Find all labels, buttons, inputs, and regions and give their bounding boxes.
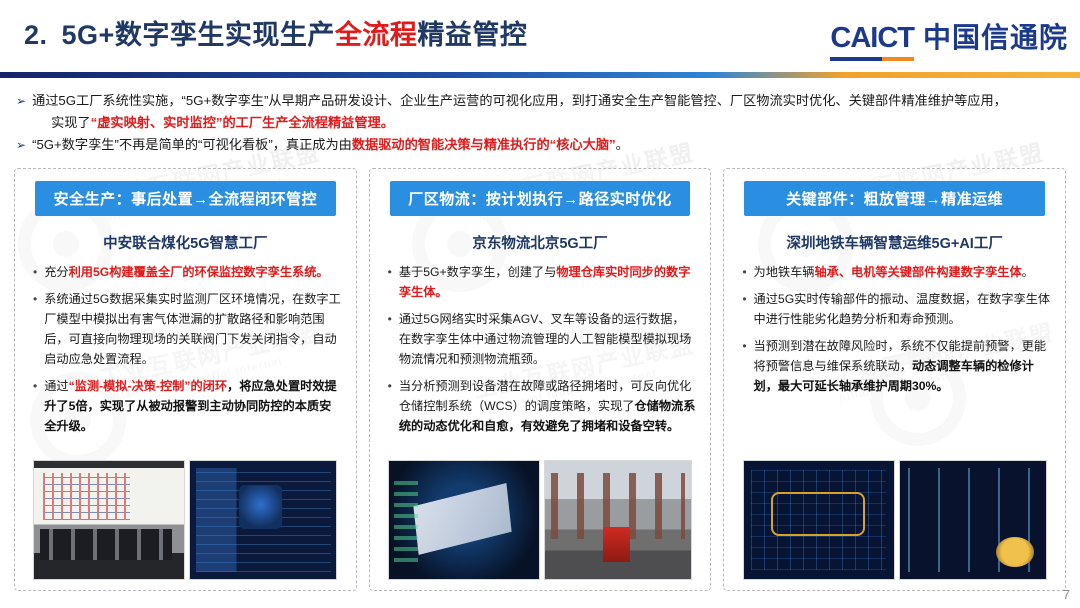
- bullet-text: 当预测到潜在故障风险时，系统不仅能提前预警，更能将预警信息与维保系统联动，动态调…: [754, 336, 1051, 396]
- bullet-dot-icon: •: [742, 262, 746, 282]
- intro-bullet-2: ➢ “5G+数字孪生”不再是简单的“可视化看板”，真正成为由数据驱动的智能决策与…: [16, 134, 1064, 156]
- caict-logo: CAICT 中国信通院: [830, 16, 1068, 61]
- arrow-bullet-icon: ➢: [16, 90, 26, 112]
- seg-normal: 通过: [44, 379, 68, 393]
- page-title: 2.5G+数字孪生实现生产全流程精益管控: [24, 13, 527, 52]
- column-subtitle-logistics: 京东物流北京5G工厂: [378, 232, 703, 253]
- figure-strip-logistics: [378, 456, 703, 582]
- figure-strip-safety: [23, 456, 348, 582]
- intro-bullets: ➢ 通过5G工厂系统性实施，“5G+数字孪生”从早期产品研发设计、企业生产运营的…: [16, 90, 1064, 156]
- list-item: • 基于5G+数字孪生，创建了与物理仓库实时同步的数字孪生体。: [382, 262, 697, 302]
- column-bullets-logistics: • 基于5G+数字孪生，创建了与物理仓库实时同步的数字孪生体。 • 通过5G网络…: [378, 262, 703, 443]
- list-item: • 为地铁车辆轴承、电机等关键部件构建数字孪生体。: [736, 262, 1051, 282]
- bullet-text: 通过5G实时传输部件的振动、温度数据，在数字孪生体中进行性能劣化趋势分析和寿命预…: [754, 289, 1051, 329]
- slide-header: 2.5G+数字孪生实现生产全流程精益管控 CAICT 中国信通院: [0, 0, 1080, 70]
- caict-logo-underline: [830, 57, 914, 61]
- list-item: • 系统通过5G数据采集实时监测厂区环境情况，在数字工厂模型中模拟出有害气体泄漏…: [27, 289, 342, 369]
- column-bullets-safety: • 充分利用5G构建覆盖全厂的环保监控数字孪生系统。 • 系统通过5G数据采集实…: [23, 262, 348, 443]
- list-item: • 充分利用5G构建覆盖全厂的环保监控数字孪生系统。: [27, 262, 342, 282]
- list-item: • 通过“监测-模拟-决策-控制”的闭环，将应急处置时效提升了5倍，实现了从被动…: [27, 376, 342, 436]
- intro-b2-black: “5G+数字孪生”不再是简单的“可视化看板”，真正成为由: [32, 137, 352, 152]
- seg-normal: 充分: [44, 265, 68, 279]
- figure-environment-dashboard: [189, 460, 337, 580]
- bullet-dot-icon: •: [742, 289, 746, 309]
- figure-warehouse-photo: [544, 460, 692, 580]
- intro-b2-red: 数据驱动的智能决策与精准执行的“核心大脑”: [352, 137, 616, 152]
- page-number: 7: [1063, 587, 1070, 602]
- seg-normal: 为地铁车辆: [754, 265, 815, 279]
- figure-control-room-photo: [33, 460, 185, 580]
- bullet-text: 通过5G网络实时采集AGV、叉车等设备的运行数据，在数字孪生体中通过物流管理的人…: [399, 309, 696, 369]
- column-subtitle-components: 深圳地铁车辆智慧运维5G+AI工厂: [732, 232, 1057, 253]
- bullet-text: 充分利用5G构建覆盖全厂的环保监控数字孪生系统。: [44, 262, 341, 282]
- bullet-dot-icon: •: [388, 376, 392, 396]
- case-column-logistics: 厂区物流：按计划执行→路径实时优化 京东物流北京5G工厂 • 基于5G+数字孪生…: [369, 168, 712, 591]
- page-title-part-3: 精益管控: [417, 20, 527, 50]
- seg-tail: 。: [1022, 265, 1034, 279]
- bullet-text: 系统通过5G数据采集实时监测厂区环境情况，在数字工厂模型中模拟出有害气体泄漏的扩…: [44, 289, 341, 369]
- figure-warehouse-digital-twin: [388, 460, 540, 580]
- list-item: • 通过5G实时传输部件的振动、温度数据，在数字孪生体中进行性能劣化趋势分析和寿…: [736, 289, 1051, 329]
- figure-bogie-status-dashboard: [899, 460, 1047, 580]
- intro-b2-tail: 。: [616, 137, 629, 152]
- column-header-logistics: 厂区物流：按计划执行→路径实时优化: [390, 181, 691, 216]
- case-column-safety: 安全生产：事后处置→全流程闭环管控 中安联合煤化5G智慧工厂 • 充分利用5G构…: [14, 168, 357, 591]
- case-column-components: 关键部件：粗放管理→精准运维 深圳地铁车辆智慧运维5G+AI工厂 • 为地铁车辆…: [723, 168, 1066, 591]
- intro-b1-line1: 通过5G工厂系统性实施，“5G+数字孪生”从早期产品研发设计、企业生产运营的可视…: [32, 93, 1007, 108]
- bullet-dot-icon: •: [742, 336, 746, 356]
- bullet-dot-icon: •: [388, 262, 392, 282]
- column-subtitle-safety: 中安联合煤化5G智慧工厂: [23, 232, 348, 253]
- intro-bullet-1-text: 通过5G工厂系统性实施，“5G+数字孪生”从早期产品研发设计、企业生产运营的可视…: [32, 90, 1007, 134]
- column-header-components: 关键部件：粗放管理→精准运维: [744, 181, 1045, 216]
- seg-red: 利用5G构建覆盖全厂的环保监控数字孪生系统。: [69, 265, 329, 279]
- intro-bullet-1: ➢ 通过5G工厂系统性实施，“5G+数字孪生”从早期产品研发设计、企业生产运营的…: [16, 90, 1064, 134]
- figure-strip-components: [732, 456, 1057, 582]
- page-title-part-1: 5G+数字孪生实现生产: [62, 20, 335, 50]
- bullet-text: 基于5G+数字孪生，创建了与物理仓库实时同步的数字孪生体。: [399, 262, 696, 302]
- seg-red: 轴承、电机等关键部件构建数字孪生体: [814, 265, 1021, 279]
- column-header-safety: 安全生产：事后处置→全流程闭环管控: [35, 181, 336, 216]
- bullet-dot-icon: •: [33, 376, 37, 396]
- list-item: • 通过5G网络实时采集AGV、叉车等设备的运行数据，在数字孪生体中通过物流管理…: [382, 309, 697, 369]
- bullet-dot-icon: •: [388, 309, 392, 329]
- intro-bullet-2-text: “5G+数字孪生”不再是简单的“可视化看板”，真正成为由数据驱动的智能决策与精准…: [32, 134, 629, 156]
- column-bullets-components: • 为地铁车辆轴承、电机等关键部件构建数字孪生体。 • 通过5G实时传输部件的振…: [732, 262, 1057, 403]
- list-item: • 当分析预测到设备潜在故障或路径拥堵时，可反向优化仓储控制系统（WCS）的调度…: [382, 376, 697, 436]
- seg-red: “监测-模拟-决策-控制”的闭环: [69, 379, 227, 393]
- caict-logo-text: CAICT: [830, 22, 914, 54]
- page-title-highlight: 全流程: [335, 20, 418, 50]
- arrow-bullet-icon: ➢: [16, 134, 26, 156]
- bullet-text: 当分析预测到设备潜在故障或路径拥堵时，可反向优化仓储控制系统（WCS）的调度策略…: [399, 376, 696, 436]
- list-item: • 当预测到潜在故障风险时，系统不仅能提前预警，更能将预警信息与维保系统联动，动…: [736, 336, 1051, 396]
- intro-b1-line2-black: 实现了: [32, 115, 91, 130]
- bullet-text: 为地铁车辆轴承、电机等关键部件构建数字孪生体。: [754, 262, 1051, 282]
- figure-vehicle-monitor-dashboard: [743, 460, 895, 580]
- intro-b1-line2-red: “虚实映射、实时监控”的工厂生产全流程精益管理。: [91, 115, 394, 130]
- case-columns: 安全生产：事后处置→全流程闭环管控 中安联合煤化5G智慧工厂 • 充分利用5G构…: [14, 168, 1066, 591]
- header-divider: [0, 72, 1080, 78]
- bullet-text: 通过“监测-模拟-决策-控制”的闭环，将应急处置时效提升了5倍，实现了从被动报警…: [44, 376, 341, 436]
- caict-logo-cn: 中国信通院: [923, 16, 1068, 61]
- page-title-number: 2.: [24, 20, 48, 50]
- caict-logo-mark: CAICT: [830, 22, 914, 61]
- bullet-dot-icon: •: [33, 289, 37, 309]
- bullet-dot-icon: •: [33, 262, 37, 282]
- seg-normal: 基于5G+数字孪生，创建了与: [399, 265, 556, 279]
